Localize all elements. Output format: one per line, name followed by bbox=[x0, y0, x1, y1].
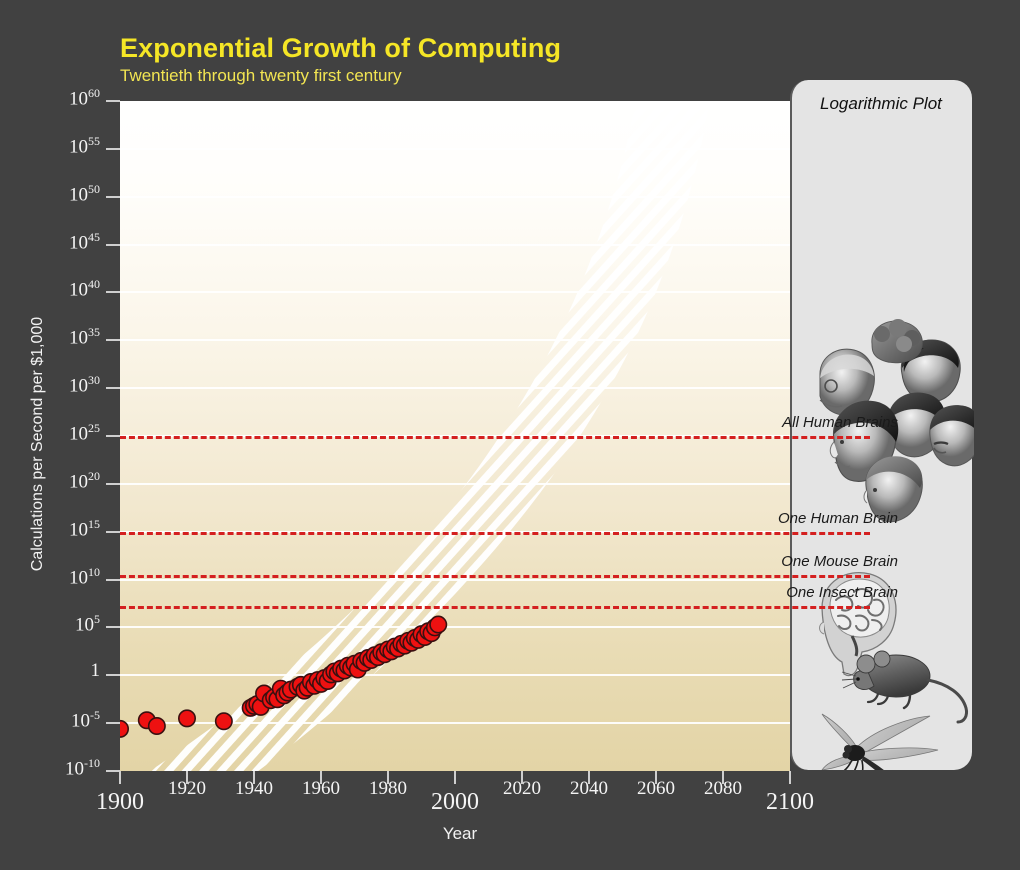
y-axis-tick-mark bbox=[106, 387, 120, 389]
x-axis-tick-mark bbox=[320, 771, 322, 784]
x-axis-label: Year bbox=[400, 824, 520, 844]
x-axis-tick-mark bbox=[722, 771, 724, 784]
x-axis-tick-mark bbox=[588, 771, 590, 784]
y-axis-tick-mark bbox=[106, 722, 120, 724]
y-axis-tick-mark bbox=[106, 483, 120, 485]
y-axis-tick-mark bbox=[106, 291, 120, 293]
y-axis-tick-mark bbox=[106, 531, 120, 533]
y-axis-tick-label: 10-10 bbox=[0, 756, 100, 780]
y-axis-tick-mark bbox=[106, 626, 120, 628]
data-point bbox=[149, 718, 165, 734]
y-axis-tick-mark bbox=[106, 148, 120, 150]
y-axis-tick-mark bbox=[106, 770, 120, 772]
y-axis-tick-mark bbox=[106, 196, 120, 198]
y-axis-tick-label: 1035 bbox=[0, 325, 100, 349]
y-axis-tick-label: 1055 bbox=[0, 134, 100, 158]
x-axis-tick-mark bbox=[521, 771, 523, 784]
threshold-line bbox=[120, 532, 870, 535]
x-axis-tick-mark bbox=[253, 771, 255, 784]
x-axis-tick-mark bbox=[454, 771, 456, 784]
y-axis-tick-label: 1 bbox=[0, 660, 100, 682]
threshold-label: One Insect Brain bbox=[420, 584, 898, 601]
page-title: Exponential Growth of Computing bbox=[120, 33, 561, 64]
data-point bbox=[179, 710, 195, 726]
x-axis-tick-mark bbox=[119, 771, 121, 784]
threshold-line bbox=[120, 575, 870, 578]
y-axis-tick-label: 1020 bbox=[0, 469, 100, 493]
threshold-line bbox=[120, 606, 870, 609]
y-axis-tick-label: 1025 bbox=[0, 421, 100, 445]
y-axis-tick-label: 1010 bbox=[0, 565, 100, 589]
y-axis-tick-label: 1050 bbox=[0, 182, 100, 206]
y-axis-tick-mark bbox=[106, 579, 120, 581]
x-axis-tick-mark bbox=[789, 771, 791, 784]
y-axis-tick-label: 10-5 bbox=[0, 708, 100, 732]
page-subtitle: Twentieth through twenty first century bbox=[120, 66, 402, 86]
y-axis-tick-label: 105 bbox=[0, 612, 100, 636]
y-axis-tick-label: 1040 bbox=[0, 277, 100, 301]
x-axis-tick-mark bbox=[387, 771, 389, 784]
y-axis-tick-mark bbox=[106, 244, 120, 246]
chart-canvas: Exponential Growth of Computing Twentiet… bbox=[0, 0, 1020, 870]
x-axis-tick-label: 2100 bbox=[740, 789, 840, 816]
y-axis-tick-label: 1030 bbox=[0, 373, 100, 397]
data-point bbox=[216, 713, 232, 729]
y-axis-tick-mark bbox=[106, 339, 120, 341]
y-axis-tick-label: 1060 bbox=[0, 86, 100, 110]
x-axis-tick-mark bbox=[186, 771, 188, 784]
mouse-illustration bbox=[842, 651, 967, 722]
data-point bbox=[430, 616, 446, 632]
y-axis-tick-mark bbox=[106, 674, 120, 676]
threshold-label: One Mouse Brain bbox=[420, 553, 898, 570]
dragonfly-illustration bbox=[822, 714, 938, 770]
y-axis-tick-label: 1015 bbox=[0, 517, 100, 541]
x-axis-tick-mark bbox=[655, 771, 657, 784]
y-axis-tick-mark bbox=[106, 100, 120, 102]
y-axis-tick-label: 1045 bbox=[0, 230, 100, 254]
threshold-line bbox=[120, 436, 870, 439]
data-point bbox=[120, 721, 128, 737]
threshold-label: All Human Brains bbox=[420, 414, 898, 431]
y-axis-tick-mark bbox=[106, 435, 120, 437]
threshold-label: One Human Brain bbox=[420, 510, 898, 527]
